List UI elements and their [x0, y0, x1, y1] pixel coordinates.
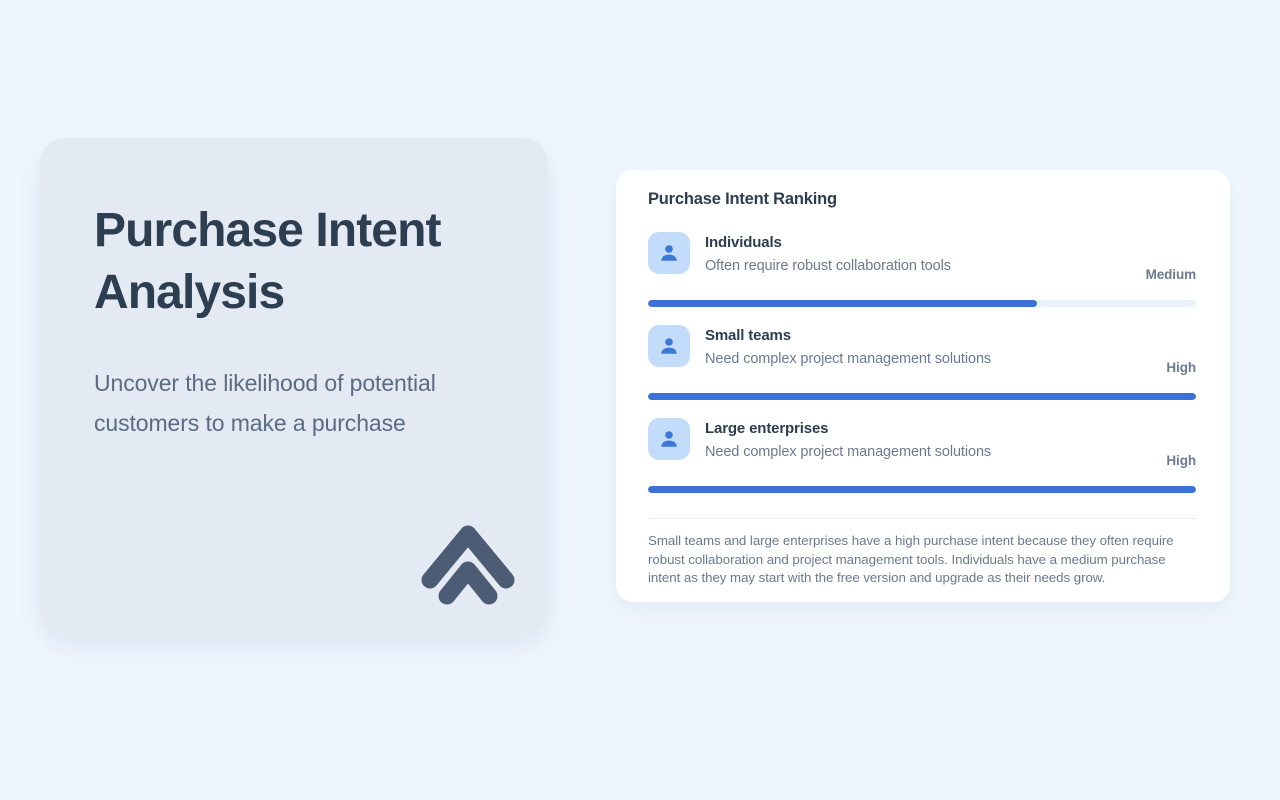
- list-item-description: Need complex project management solution…: [705, 443, 1166, 462]
- list-item[interactable]: Individuals Often require robust collabo…: [648, 232, 1196, 325]
- hero-card: Purchase Intent Analysis Uncover the lik…: [40, 138, 548, 636]
- status-badge: High: [1166, 360, 1196, 377]
- progress-bar-fill: [648, 300, 1037, 307]
- list-item-title: Small teams: [705, 326, 1166, 345]
- list-item-description: Need complex project management solution…: [705, 350, 1166, 369]
- progress-bar-track: [648, 300, 1196, 307]
- double-chevron-up-logo-icon: [418, 518, 518, 608]
- page-root: Purchase Intent Analysis Uncover the lik…: [0, 0, 1280, 800]
- progress-bar-track: [648, 486, 1196, 493]
- list-item-header: Individuals Often require robust collabo…: [648, 232, 1196, 284]
- panel-title: Purchase Intent Ranking: [648, 190, 837, 209]
- list-item[interactable]: Large enterprises Need complex project m…: [648, 418, 1196, 511]
- list-item-header: Small teams Need complex project managem…: [648, 325, 1196, 377]
- status-badge: High: [1166, 453, 1196, 470]
- list-item-text: Individuals Often require robust collabo…: [705, 232, 1146, 276]
- status-badge: Medium: [1146, 267, 1196, 284]
- progress-bar-track: [648, 393, 1196, 400]
- list-item[interactable]: Small teams Need complex project managem…: [648, 325, 1196, 418]
- user-icon: [648, 418, 690, 460]
- divider: [648, 518, 1196, 519]
- list-item-text: Large enterprises Need complex project m…: [705, 418, 1166, 462]
- panel-summary-note: Small teams and large enterprises have a…: [648, 532, 1200, 588]
- list-item-title: Large enterprises: [705, 419, 1166, 438]
- user-icon: [648, 232, 690, 274]
- list-item-description: Often require robust collaboration tools: [705, 257, 1146, 276]
- ranking-list: Individuals Often require robust collabo…: [648, 232, 1196, 511]
- user-icon: [648, 325, 690, 367]
- purchase-intent-panel: Purchase Intent Ranking Individuals Ofte…: [616, 170, 1230, 602]
- page-subtitle: Uncover the likelihood of potential cust…: [94, 363, 464, 443]
- list-item-text: Small teams Need complex project managem…: [705, 325, 1166, 369]
- list-item-header: Large enterprises Need complex project m…: [648, 418, 1196, 470]
- list-item-title: Individuals: [705, 233, 1146, 252]
- progress-bar-fill: [648, 393, 1196, 400]
- page-title: Purchase Intent Analysis: [94, 200, 514, 324]
- progress-bar-fill: [648, 486, 1196, 493]
